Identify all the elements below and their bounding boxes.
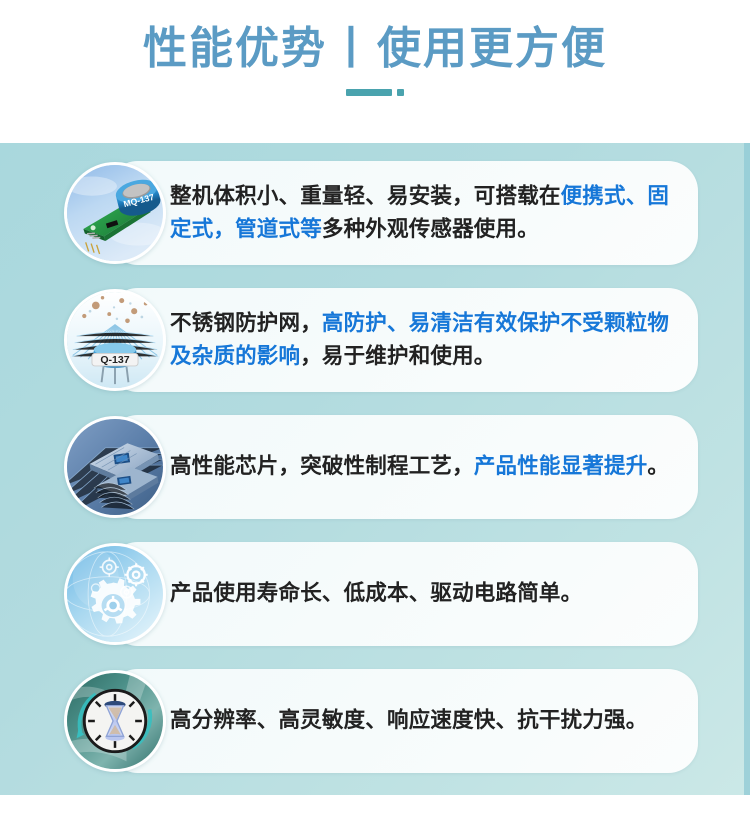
feature-text: 产品使用寿命长、低成本、驱动电路简单。 xyxy=(170,542,682,646)
hourglass-clock-icon xyxy=(64,670,166,772)
feature-list: MQ-137 整机体积小、重量轻、易安装，可搭载在便携式、固定式，管道式等多种外… xyxy=(0,143,750,773)
feature-text: 整机体积小、重量轻、易安装，可搭载在便携式、固定式，管道式等多种外观传感器使用。 xyxy=(170,161,682,265)
semiconductor-chip-icon xyxy=(64,416,166,518)
list-item[interactable]: 产品使用寿命长、低成本、驱动电路简单。 xyxy=(64,542,698,646)
stainless-steel-mesh-sensor-icon: Q-137 xyxy=(64,289,166,391)
page-header: 性能优势丨使用更方便 xyxy=(0,0,750,143)
gears-globe-icon xyxy=(64,543,166,645)
list-item[interactable]: MQ-137 整机体积小、重量轻、易安装，可搭载在便携式、固定式，管道式等多种外… xyxy=(64,161,698,265)
features-panel: MQ-137 整机体积小、重量轻、易安装，可搭载在便携式、固定式，管道式等多种外… xyxy=(0,143,750,795)
underline-dot xyxy=(397,89,404,96)
page-title: 性能优势丨使用更方便 xyxy=(143,22,607,76)
page-title-separator: 丨 xyxy=(327,24,377,73)
mq137-gas-sensor-module-icon: MQ-137 xyxy=(64,162,166,264)
page-title-left: 性能优势 xyxy=(143,24,327,73)
svg-text:Q-137: Q-137 xyxy=(100,354,129,366)
page-title-right: 使用更方便 xyxy=(377,24,607,73)
list-item[interactable]: 高分辨率、高灵敏度、响应速度快、抗干扰力强。 xyxy=(64,669,698,773)
list-item[interactable]: Q-137 不锈钢防护网，高防护、易清洁有效保护不受颗粒物及杂质的影响，易于维护… xyxy=(64,288,698,392)
feature-text: 高性能芯片，突破性制程工艺，产品性能显著提升。 xyxy=(170,415,682,519)
list-item[interactable]: 高性能芯片，突破性制程工艺，产品性能显著提升。 xyxy=(64,415,698,519)
footer-spacer xyxy=(0,795,750,835)
feature-text: 不锈钢防护网，高防护、易清洁有效保护不受颗粒物及杂质的影响，易于维护和使用。 xyxy=(170,288,682,392)
feature-text: 高分辨率、高灵敏度、响应速度快、抗干扰力强。 xyxy=(170,669,682,773)
title-underline-decoration xyxy=(346,89,404,96)
underline-dash xyxy=(346,89,392,96)
